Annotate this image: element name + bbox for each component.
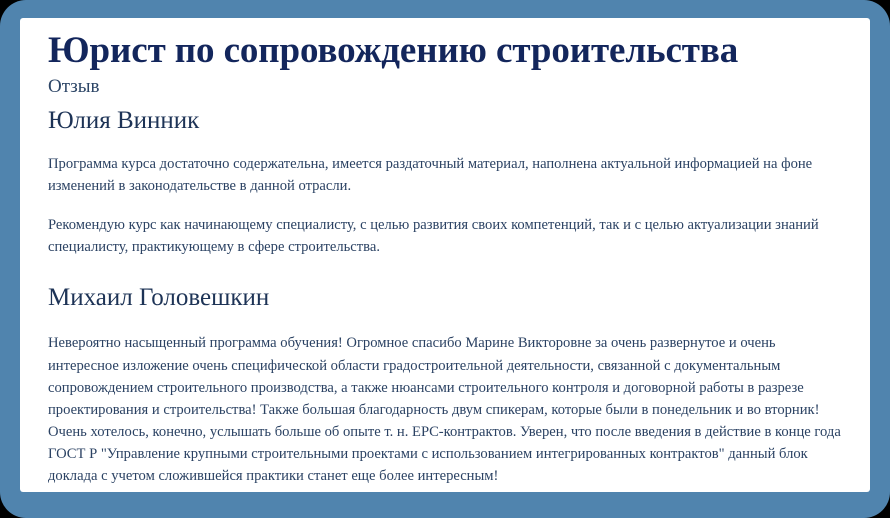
review-author-1: Юлия Винник — [48, 107, 842, 135]
review-1: Программа курса достаточно содержательна… — [48, 153, 842, 259]
page-title: Юрист по сопровождению строительства — [48, 32, 842, 71]
page-frame: Юрист по сопровождению строительства Отз… — [0, 0, 890, 518]
document-card: Юрист по сопровождению строительства Отз… — [20, 18, 870, 492]
review-paragraph: Программа курса достаточно содержательна… — [48, 153, 842, 197]
review-paragraph: Рекомендую курс как начинающему специали… — [48, 214, 842, 258]
review-author-2: Михаил Головешкин — [48, 284, 842, 312]
document-subtitle: Отзыв — [48, 77, 842, 98]
review-2: Невероятно насыщенный программа обучения… — [48, 332, 842, 487]
review-paragraph: Невероятно насыщенный программа обучения… — [48, 332, 842, 487]
